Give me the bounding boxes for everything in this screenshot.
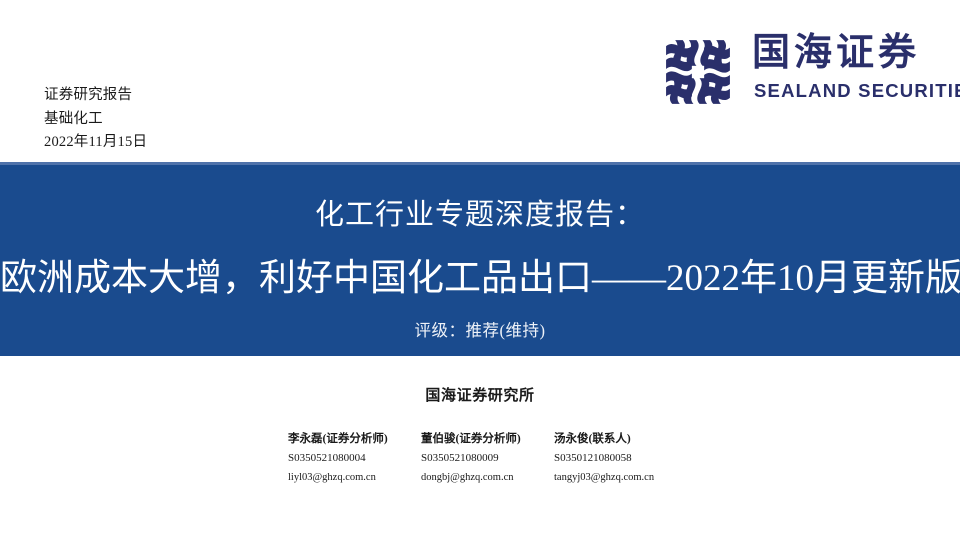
report-cover-page: 证券研究报告 基础化工 2022年11月15日 — [0, 0, 960, 540]
report-subtitle: 化工行业专题深度报告： — [0, 191, 960, 233]
analyst-cert-code: S0350121080058 — [554, 449, 687, 468]
analyst-entry: 李永磊(证券分析师) S0350521080004 liyl03@ghzq.co… — [288, 430, 421, 487]
analyst-list: 李永磊(证券分析师) S0350521080004 liyl03@ghzq.co… — [288, 430, 688, 487]
analyst-name: 汤永俊(联系人) — [554, 430, 687, 449]
analyst-email[interactable]: dongbj@ghzq.com.cn — [421, 468, 554, 487]
report-date-label: 2022年11月15日 — [44, 131, 147, 155]
report-type-label: 证券研究报告 — [44, 84, 147, 108]
rating-label: 评级：推荐(维持) — [0, 317, 960, 341]
report-sector-label: 基础化工 — [44, 108, 147, 132]
analyst-cert-code: S0350521080004 — [288, 449, 421, 468]
analyst-entry: 董伯骏(证券分析师) S0350521080009 dongbj@ghzq.co… — [421, 430, 554, 487]
analyst-name: 董伯骏(证券分析师) — [421, 430, 554, 449]
sealand-swirl-logo-icon — [660, 34, 736, 110]
page-header: 证券研究报告 基础化工 2022年11月15日 — [0, 0, 960, 160]
logo-english-name: SEALAND SECURITIES — [754, 80, 960, 102]
analyst-email[interactable]: liyl03@ghzq.com.cn — [288, 468, 421, 487]
report-main-title: 欧洲成本大增，利好中国化工品出口——2022年10月更新版 — [0, 247, 960, 301]
report-meta-block: 证券研究报告 基础化工 2022年11月15日 — [44, 84, 147, 155]
analyst-entry: 汤永俊(联系人) S0350121080058 tangyj03@ghzq.co… — [554, 430, 687, 487]
company-logo: 国海证券 SEALAND SECURITIES — [660, 30, 938, 112]
research-institute-name: 国海证券研究所 — [0, 384, 960, 405]
logo-chinese-name: 国海证券 — [752, 30, 920, 76]
analyst-name: 李永磊(证券分析师) — [288, 430, 421, 449]
analyst-cert-code: S0350521080009 — [421, 449, 554, 468]
title-banner: 化工行业专题深度报告： 欧洲成本大增，利好中国化工品出口——2022年10月更新… — [0, 162, 960, 356]
analyst-email[interactable]: tangyj03@ghzq.com.cn — [554, 468, 687, 487]
